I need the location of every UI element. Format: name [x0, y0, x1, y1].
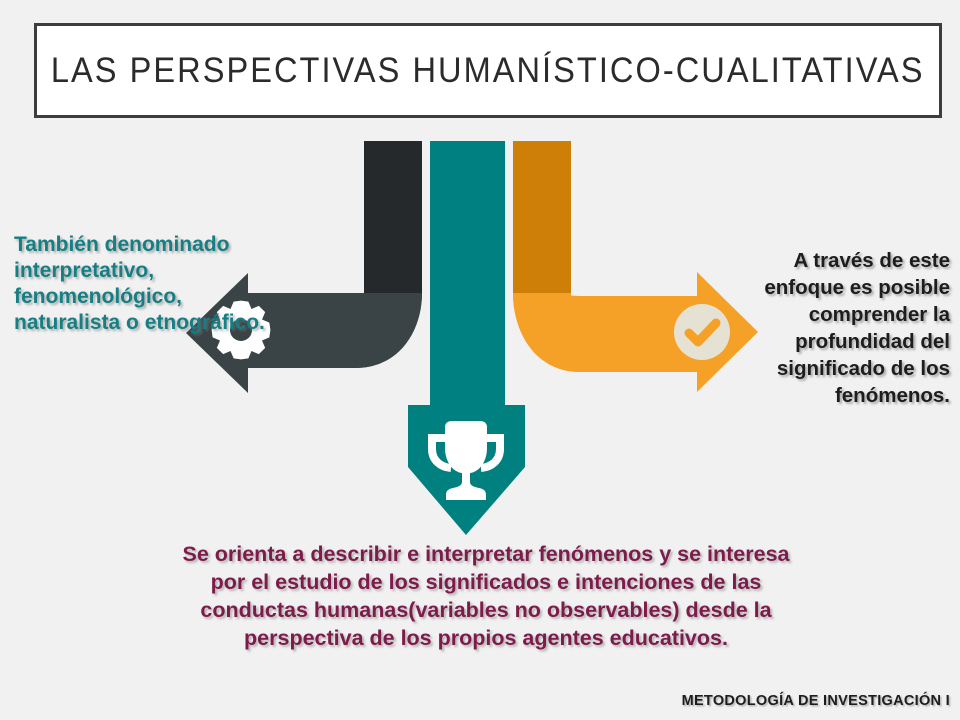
right-branch-label: A través de este enfoque es posible comp… [738, 247, 950, 409]
check-circle-icon [674, 304, 730, 360]
slide-canvas: LAS PERSPECTIVAS HUMANÍSTICO-CUALITATIVA… [0, 0, 960, 720]
center-arrow-seam [430, 400, 505, 420]
left-branch-label: También denominado interpretativo, fenom… [14, 232, 266, 336]
center-arrow-shaft [430, 141, 505, 411]
slide-footer: METODOLOGÍA DE INVESTIGACIÓN I [520, 692, 950, 710]
right-arrow-curve-highlight [513, 293, 580, 372]
center-branch-label: Se orienta a describir e interpretar fen… [170, 540, 802, 652]
left-arrow-top-bar [364, 141, 422, 293]
center-branch-arrow [408, 141, 525, 535]
right-branch-arrow [513, 141, 758, 392]
left-arrow-curve-highlight [355, 293, 422, 368]
right-arrow-top-bar [513, 141, 571, 293]
